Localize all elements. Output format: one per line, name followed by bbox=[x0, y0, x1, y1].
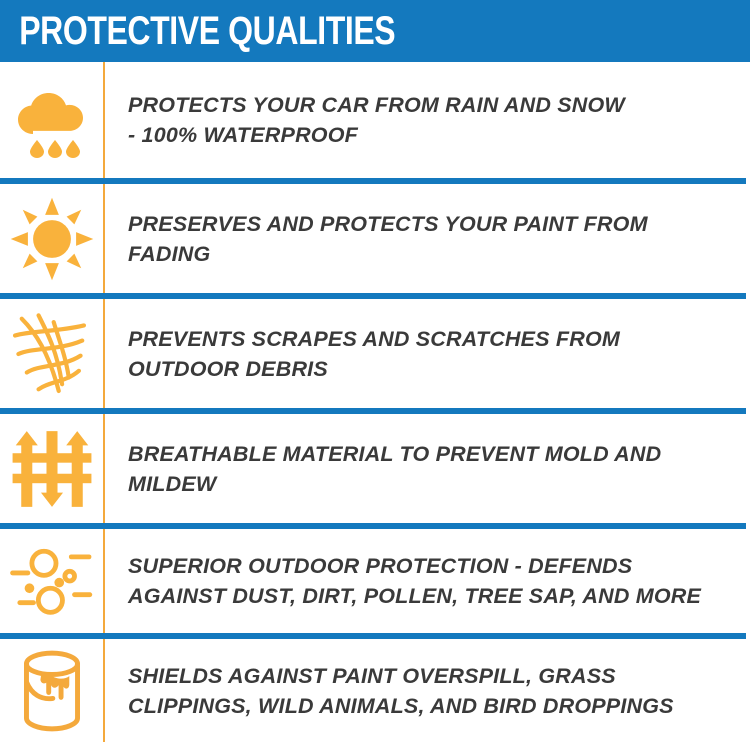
feature-line: OUTDOOR DEBRIS bbox=[128, 354, 740, 384]
icon-cell bbox=[0, 184, 103, 293]
dust-particles-icon bbox=[8, 544, 96, 618]
icon-cell bbox=[0, 299, 103, 408]
feature-line: AGAINST DUST, DIRT, POLLEN, TREE SAP, AN… bbox=[128, 581, 740, 611]
list-item: PREVENTS SCRAPES AND SCRATCHES FROM OUTD… bbox=[0, 299, 750, 408]
icon-cell bbox=[0, 529, 103, 633]
feature-text: SHIELDS AGAINST PAINT OVERSPILL, GRASS C… bbox=[105, 661, 750, 721]
feature-text: PRESERVES AND PROTECTS YOUR PAINT FROM F… bbox=[105, 209, 750, 269]
mesh-net-icon bbox=[10, 310, 94, 398]
feature-line: SHIELDS AGAINST PAINT OVERSPILL, GRASS bbox=[128, 661, 740, 691]
breathable-airflow-icon bbox=[12, 428, 92, 510]
list-item: SUPERIOR OUTDOOR PROTECTION - DEFENDS AG… bbox=[0, 529, 750, 633]
feature-line: BREATHABLE MATERIAL TO PREVENT MOLD AND bbox=[128, 439, 740, 469]
feature-line: PROTECTS YOUR CAR FROM RAIN AND SNOW bbox=[128, 90, 740, 120]
feature-line: - 100% WATERPROOF bbox=[128, 120, 740, 150]
feature-text: PREVENTS SCRAPES AND SCRATCHES FROM OUTD… bbox=[105, 324, 750, 384]
feature-line: PREVENTS SCRAPES AND SCRATCHES FROM bbox=[128, 324, 740, 354]
list-item: SHIELDS AGAINST PAINT OVERSPILL, GRASS C… bbox=[0, 639, 750, 742]
page-title: PROTECTIVE QUALITIES bbox=[0, 11, 395, 51]
icon-cell bbox=[0, 62, 103, 178]
list-item: BREATHABLE MATERIAL TO PREVENT MOLD AND … bbox=[0, 414, 750, 523]
list-item: PRESERVES AND PROTECTS YOUR PAINT FROM F… bbox=[0, 184, 750, 293]
feature-line: SUPERIOR OUTDOOR PROTECTION - DEFENDS bbox=[128, 551, 740, 581]
sun-icon bbox=[9, 196, 95, 282]
list-item: PROTECTS YOUR CAR FROM RAIN AND SNOW - 1… bbox=[0, 62, 750, 178]
protective-qualities-infographic: PROTECTIVE QUALITIES PROTECTS YOUR CAR F… bbox=[0, 0, 750, 750]
paint-can-icon bbox=[13, 649, 91, 733]
feature-text: PROTECTS YOUR CAR FROM RAIN AND SNOW - 1… bbox=[105, 90, 750, 150]
feature-line: CLIPPINGS, WILD ANIMALS, AND BIRD DROPPI… bbox=[128, 691, 740, 721]
feature-line: PRESERVES AND PROTECTS YOUR PAINT FROM bbox=[128, 209, 740, 239]
feature-line: MILDEW bbox=[128, 469, 740, 499]
icon-cell bbox=[0, 414, 103, 523]
feature-list: PROTECTS YOUR CAR FROM RAIN AND SNOW - 1… bbox=[0, 62, 750, 742]
feature-text: SUPERIOR OUTDOOR PROTECTION - DEFENDS AG… bbox=[105, 551, 750, 611]
icon-cell bbox=[0, 639, 103, 742]
rain-cloud-icon bbox=[13, 82, 91, 158]
feature-text: BREATHABLE MATERIAL TO PREVENT MOLD AND … bbox=[105, 439, 750, 499]
feature-line: FADING bbox=[128, 239, 740, 269]
header-banner: PROTECTIVE QUALITIES bbox=[0, 0, 750, 62]
